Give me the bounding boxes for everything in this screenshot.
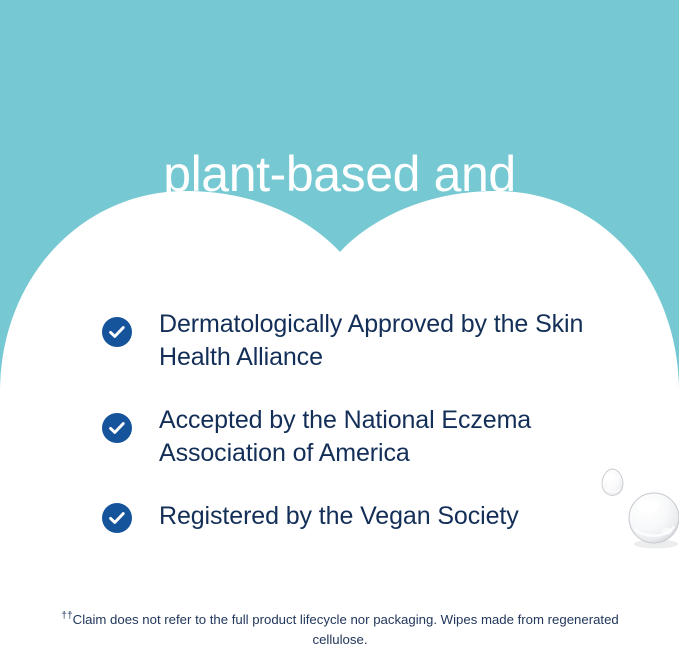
headline-line-1: plant-based and	[0, 146, 679, 203]
list-item: Dermatologically Approved by the Skin He…	[102, 308, 622, 374]
check-circle-icon	[102, 503, 132, 533]
claim-text: Registered by the Vegan Society	[159, 500, 599, 533]
footnote-text: Claim does not refer to the full product…	[73, 612, 619, 647]
list-item: Accepted by the National Eczema Associat…	[102, 404, 622, 470]
claim-text: Accepted by the National Eczema Associat…	[159, 404, 599, 470]
claims-list: Dermatologically Approved by the Skin He…	[102, 308, 622, 533]
list-item: Registered by the Vegan Society	[102, 500, 622, 533]
check-circle-icon	[102, 317, 132, 347]
check-circle-icon	[102, 413, 132, 443]
claim-text: Dermatologically Approved by the Skin He…	[159, 308, 599, 374]
product-feature-banner: plant-based and plastic free++ wipes Der…	[0, 0, 679, 651]
footnote-marker: ††	[61, 611, 72, 622]
water-droplet-large-icon	[622, 486, 679, 557]
footnote: ††Claim does not refer to the full produ…	[40, 610, 640, 650]
